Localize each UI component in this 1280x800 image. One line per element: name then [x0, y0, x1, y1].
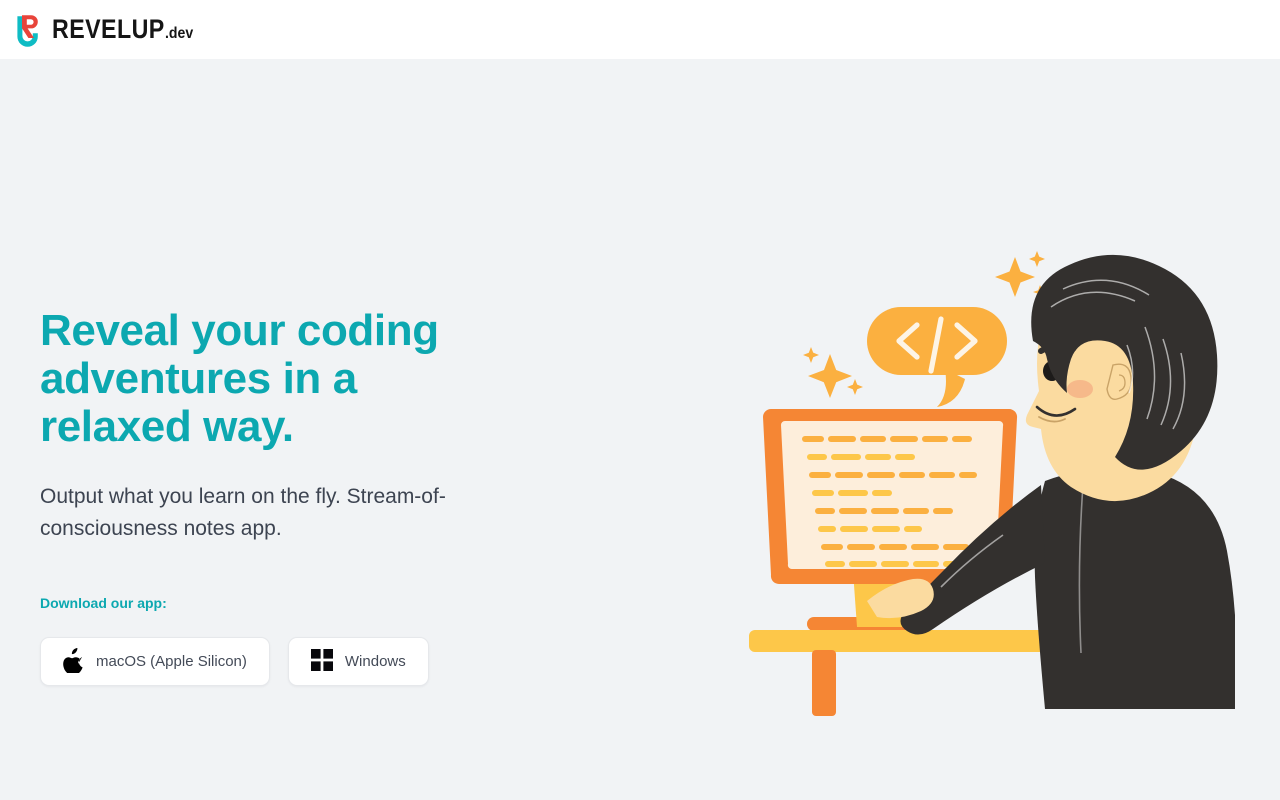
code-speech-bubble: [867, 307, 1007, 407]
revelup-r-logo-icon: [14, 13, 44, 47]
download-macos-button[interactable]: macOS (Apple Silicon): [40, 637, 270, 686]
site-header: REVELUP .dev: [0, 0, 1280, 59]
download-windows-label: Windows: [345, 653, 406, 670]
hero-section: Reveal your coding adventures in a relax…: [0, 59, 1280, 800]
download-label: Download our app:: [40, 595, 600, 611]
brand-name: REVELUP: [52, 16, 165, 43]
standing-desk: [749, 617, 1047, 716]
page-title: Reveal your coding adventures in a relax…: [40, 307, 510, 451]
hero-subtitle: Output what you learn on the fly. Stream…: [40, 481, 520, 545]
download-buttons: macOS (Apple Silicon) Windows: [40, 637, 600, 686]
brand-tld: .dev: [165, 26, 193, 42]
windows-logo-icon: [311, 649, 333, 674]
download-windows-button[interactable]: Windows: [288, 637, 429, 686]
hero-copy: Reveal your coding adventures in a relax…: [40, 307, 600, 686]
download-macos-label: macOS (Apple Silicon): [96, 653, 247, 670]
developer-at-desk-illustration: [745, 249, 1235, 729]
apple-logo-icon: [63, 648, 84, 676]
brand-logo-link[interactable]: REVELUP .dev: [14, 13, 197, 47]
brand-wordmark: REVELUP .dev: [52, 16, 197, 43]
